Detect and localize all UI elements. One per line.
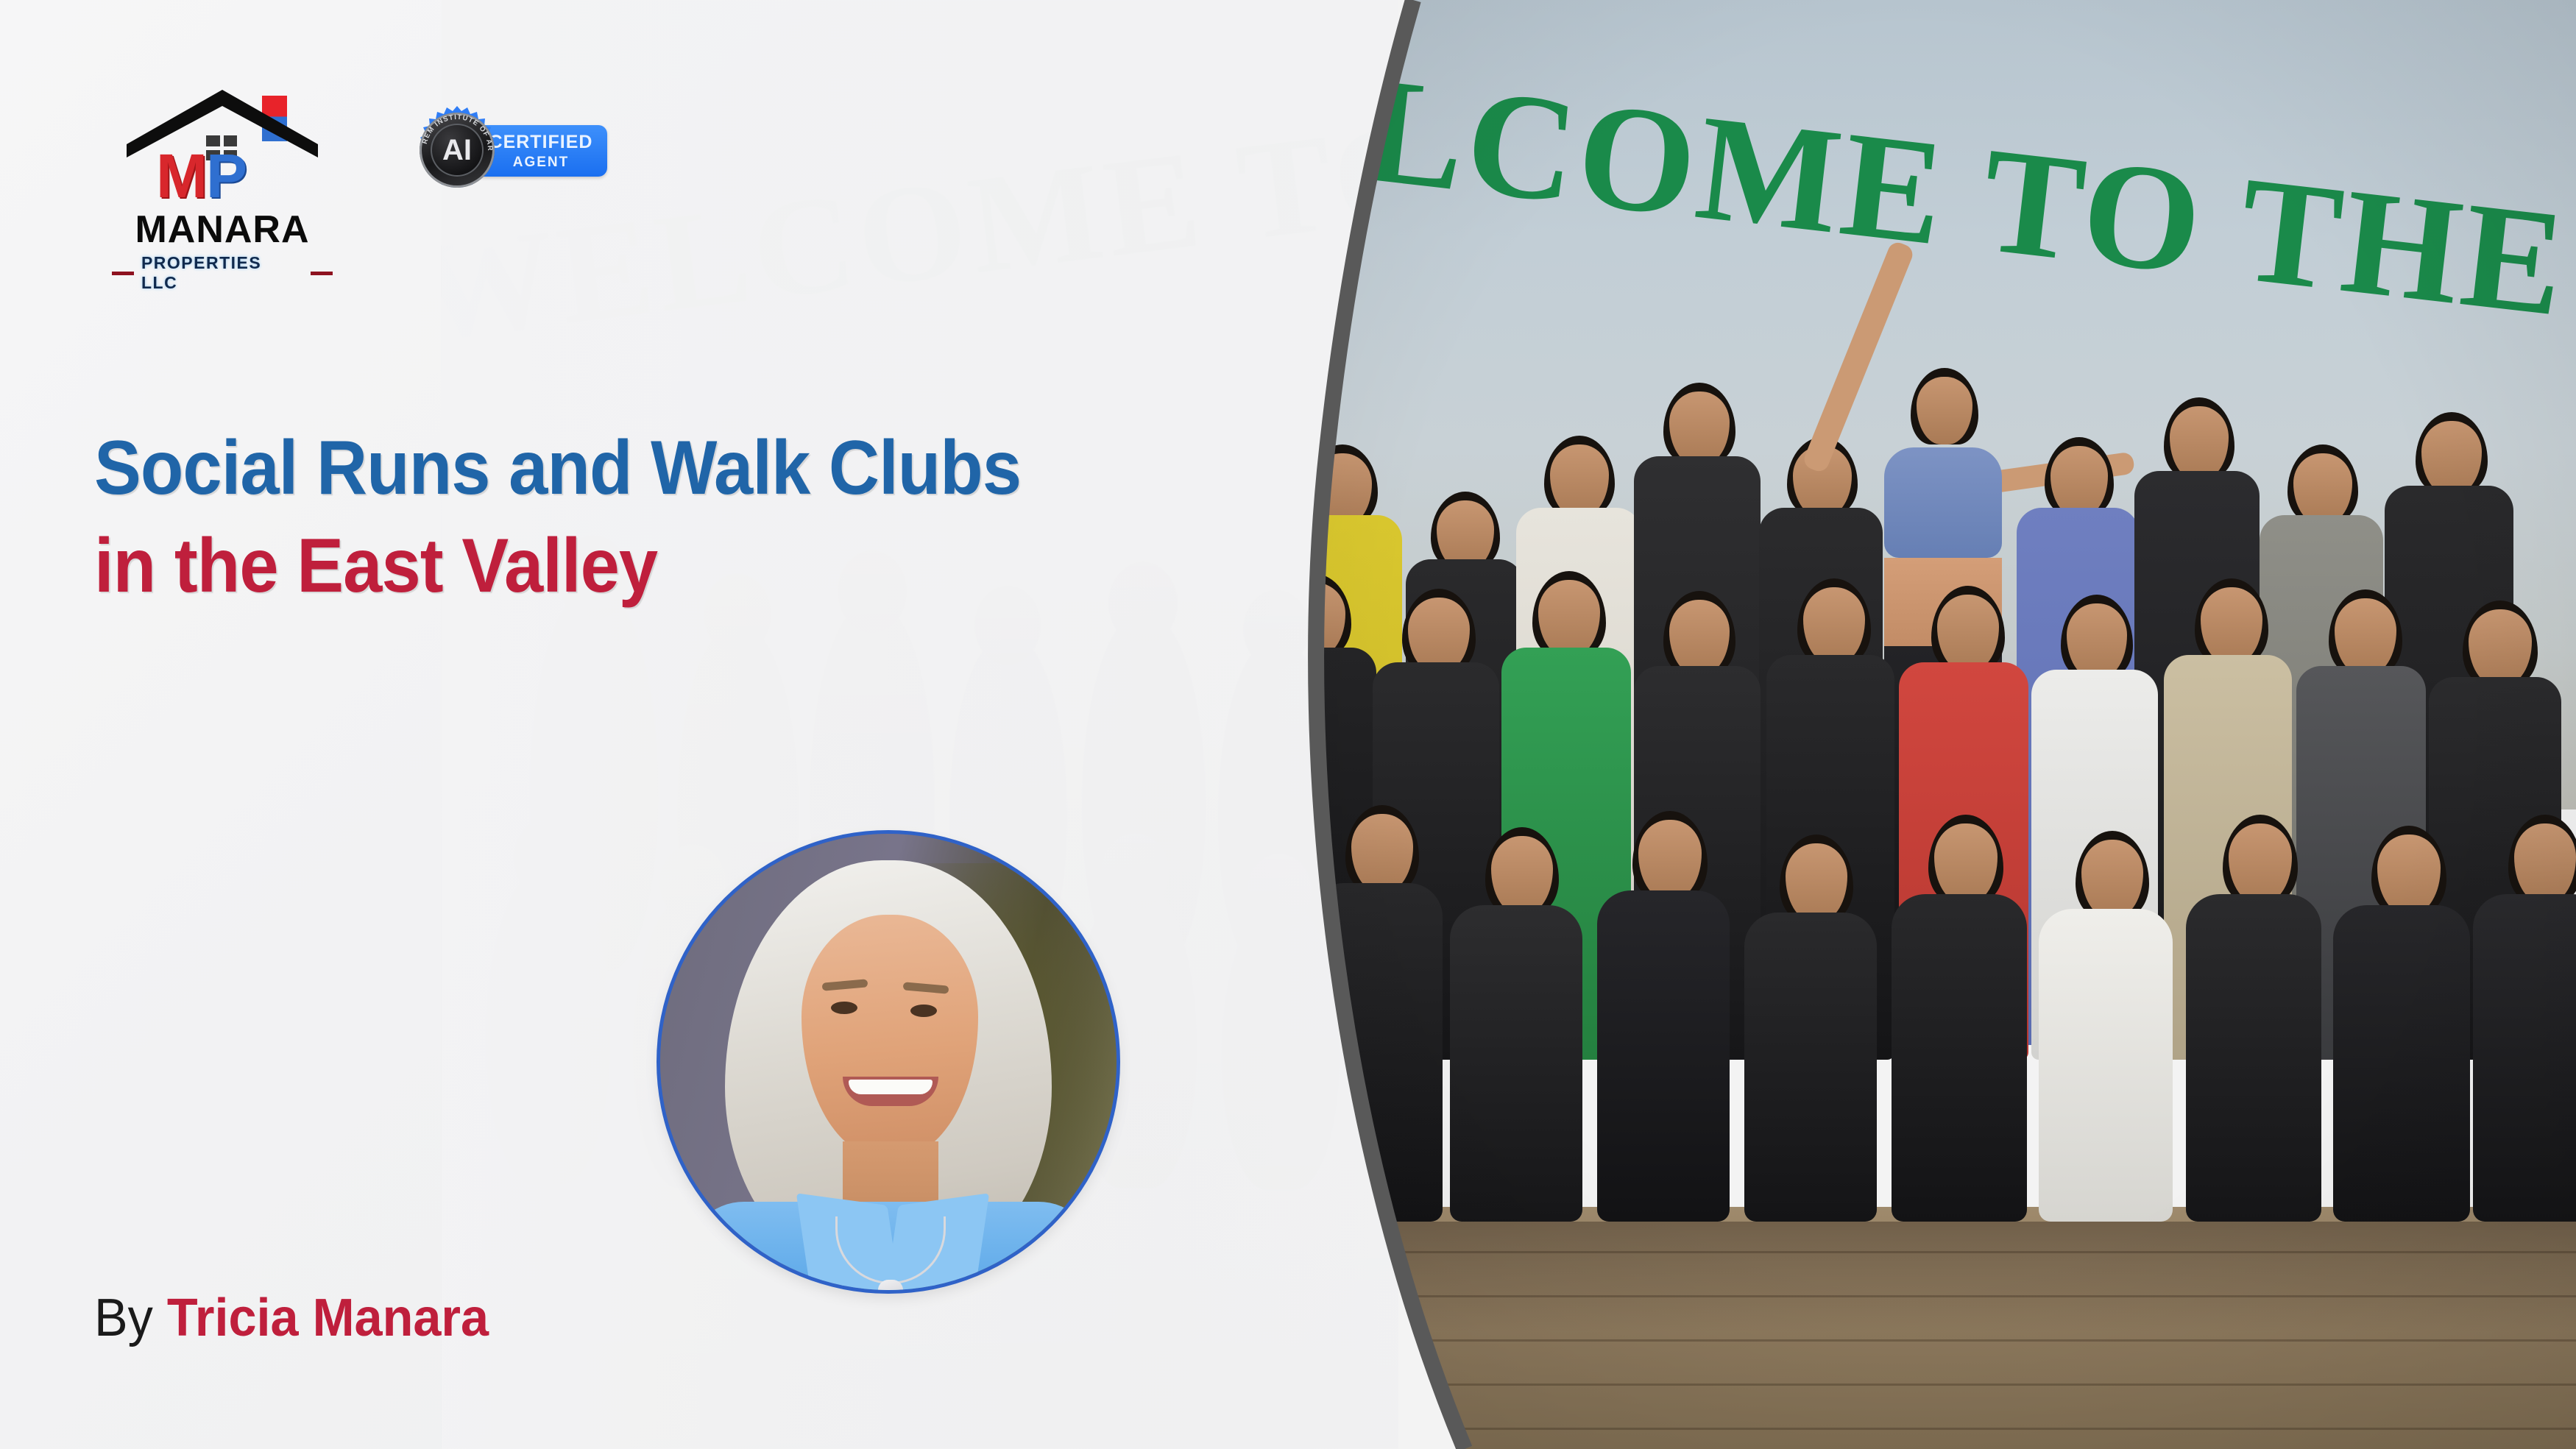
watermark-ground (442, 1280, 1398, 1449)
logo-monogram: MP (156, 144, 296, 208)
avatar-teeth (849, 1080, 933, 1094)
badge-seal-icon: REM INSTITUTE OF ARTIFICIAL INTELLIGENCE… (413, 106, 501, 194)
logo-monogram-p: P (206, 141, 246, 210)
manara-properties-logo[interactable]: MP MANARA PROPERTIES LLC (112, 65, 333, 205)
byline: By Tricia Manara (94, 1292, 489, 1345)
badge-certified-label: CERTIFIED (489, 132, 593, 153)
avatar-eye-left (831, 1002, 857, 1014)
seal-core: AI (431, 124, 484, 177)
hero-photo: WELCOME TO THE (RUN) CLUB (1251, 0, 2576, 1449)
logo-rule-right (311, 272, 333, 275)
logo-company-subtitle: PROPERTIES LLC (141, 253, 303, 293)
logo-subtitle-row: PROPERTIES LLC (112, 253, 333, 293)
logo-company-name: MANARA (112, 208, 333, 252)
photo-vignette (1251, 0, 2576, 1449)
byline-prefix: By (94, 1289, 153, 1347)
page-title-line-1: Social Runs and Walk Clubs (94, 419, 1110, 517)
badge-agent-label: AGENT (513, 155, 570, 171)
author-avatar (660, 834, 1117, 1290)
avatar-mouth (843, 1077, 938, 1106)
left-content-panel: WELCOME TO THE (RUN) CLUB (0, 0, 1398, 1449)
article-hero-banner: WELCOME TO THE (RUN) CLUB (0, 0, 2576, 1449)
page-title: Social Runs and Walk Clubs in the East V… (94, 419, 1198, 615)
ai-certified-agent-badge[interactable]: CERTIFIED AGENT REM INSTITUTE OF ARTIFIC… (401, 104, 615, 194)
logo-rule-left (112, 272, 134, 275)
seal-ai-label: AI (442, 134, 472, 167)
logo-monogram-m: M (156, 141, 206, 210)
avatar-eye-right (910, 1005, 937, 1017)
page-title-line-2: in the East Valley (94, 517, 1110, 615)
byline-author-name: Tricia Manara (167, 1289, 489, 1347)
